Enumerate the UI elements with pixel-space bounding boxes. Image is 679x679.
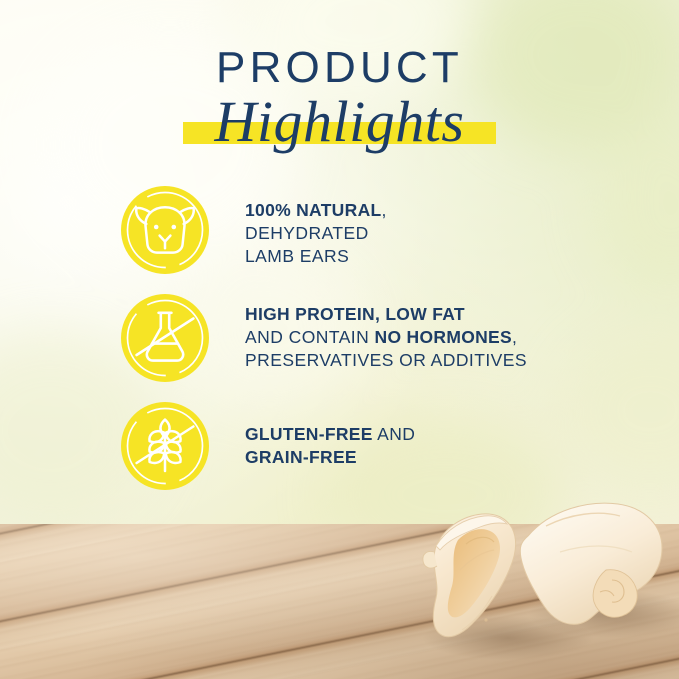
highlight-text-gluten-free: GLUTEN-FREE AND GRAIN-FREE <box>245 401 415 469</box>
text-line: LAMB EARS <box>245 245 387 268</box>
text-line: HIGH PROTEIN, LOW FAT <box>245 303 527 326</box>
no-chemicals-flask-icon <box>120 293 210 383</box>
highlight-item-protein: HIGH PROTEIN, LOW FAT AND CONTAIN NO HOR… <box>0 293 679 383</box>
text-bold: 100% NATURAL <box>245 200 382 220</box>
text-bold: HIGH PROTEIN, LOW FAT <box>245 304 465 324</box>
dehydrated-lamb-ears <box>400 488 679 679</box>
text-bold: NO HORMONES <box>375 327 512 347</box>
text-line: PRESERVATIVES OR ADDITIVES <box>245 349 527 372</box>
text-bold: GRAIN-FREE <box>245 447 357 467</box>
page-title: PRODUCT Highlights <box>0 46 679 153</box>
highlight-text-natural: 100% NATURAL, DEHYDRATED LAMB EARS <box>245 185 387 267</box>
text-line: GRAIN-FREE <box>245 446 415 469</box>
no-wheat-grain-icon <box>120 401 210 491</box>
text-line: AND CONTAIN NO HORMONES, <box>245 326 527 349</box>
text-line: DEHYDRATED <box>245 222 387 245</box>
highlight-item-gluten-free: GLUTEN-FREE AND GRAIN-FREE <box>0 401 679 491</box>
text-line: GLUTEN-FREE AND <box>245 423 415 446</box>
text-regular-pre: AND CONTAIN <box>245 327 375 347</box>
title-highlight-wrap: Highlights <box>199 92 481 153</box>
highlights-list: 100% NATURAL, DEHYDRATED LAMB EARS <box>0 185 679 511</box>
highlight-text-protein: HIGH PROTEIN, LOW FAT AND CONTAIN NO HOR… <box>245 293 527 371</box>
title-line-product: PRODUCT <box>0 46 679 90</box>
text-line: 100% NATURAL, <box>245 199 387 222</box>
text-regular: , <box>512 327 517 347</box>
lamb-head-icon <box>120 185 210 275</box>
text-bold: GLUTEN-FREE <box>245 424 373 444</box>
title-line-highlights: Highlights <box>215 92 465 153</box>
text-regular: , <box>382 200 387 220</box>
highlight-item-natural: 100% NATURAL, DEHYDRATED LAMB EARS <box>0 185 679 275</box>
product-highlights-poster: PRODUCT Highlights <box>0 0 679 679</box>
text-regular: AND <box>373 424 416 444</box>
